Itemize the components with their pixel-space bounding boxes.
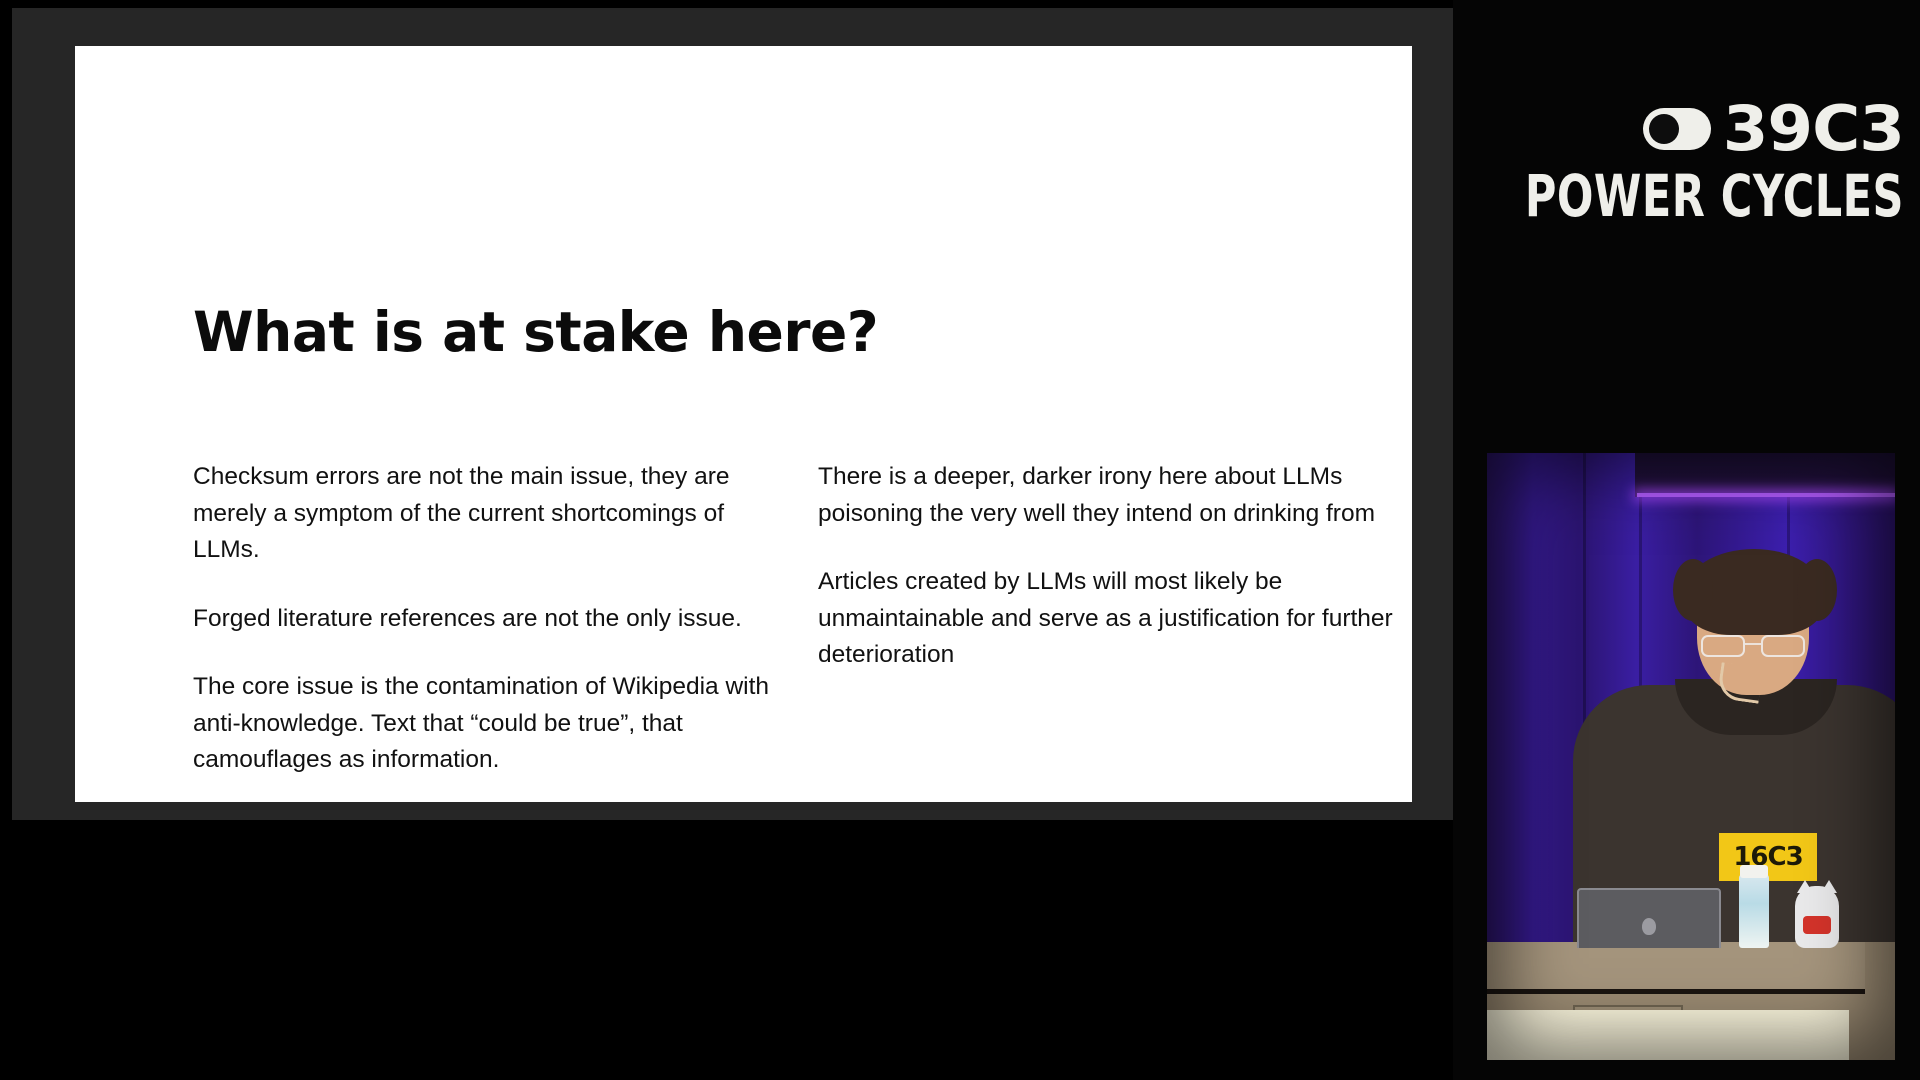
- lectern: [1487, 942, 1895, 1060]
- screen-capture-root: What is at stake here? Checksum errors a…: [0, 0, 1920, 1080]
- eyeglass-bridge: [1745, 643, 1761, 645]
- bottle-cap: [1740, 865, 1768, 878]
- lectern-top-surface: [1487, 942, 1865, 994]
- speaker-hair: [1685, 549, 1823, 635]
- slide-paragraph: Forged literature references are not the…: [193, 601, 771, 638]
- eyeglass-lens-right: [1761, 635, 1805, 657]
- toggle-switch-off-icon: [1643, 108, 1711, 150]
- eyeglass-lens-left: [1701, 635, 1745, 657]
- event-motto: POWER CYCLES: [1489, 168, 1904, 226]
- presentation-slide: What is at stake here? Checksum errors a…: [75, 46, 1412, 802]
- neko-collar: [1803, 916, 1831, 934]
- slide-column-right: There is a deeper, darker irony here abo…: [818, 459, 1393, 779]
- water-bottle-icon: [1739, 874, 1769, 948]
- slide-paragraph: There is a deeper, darker irony here abo…: [818, 459, 1393, 532]
- projection-screen-frame: What is at stake here? Checksum errors a…: [12, 8, 1453, 820]
- event-branding: 39C3 POWER CYCLES: [1453, 100, 1920, 223]
- slide-column-left: Checksum errors are not the main issue, …: [193, 459, 771, 779]
- slide-paragraph: The core issue is the contamination of W…: [193, 669, 771, 779]
- event-logo-row: 39C3: [1453, 100, 1904, 157]
- apple-logo-icon: [1642, 918, 1656, 935]
- laptop-icon: [1577, 888, 1721, 948]
- neko-ear-left: [1797, 880, 1813, 893]
- right-rail: 39C3 POWER CYCLES 16C3: [1453, 0, 1920, 1080]
- slide-body-columns: Checksum errors are not the main issue, …: [193, 459, 1393, 779]
- lectern-lit-panel: [1487, 1010, 1849, 1060]
- event-name: 39C3: [1723, 100, 1904, 157]
- eyeglasses-icon: [1699, 635, 1807, 657]
- slide-title: What is at stake here?: [193, 304, 878, 362]
- slide-paragraph: Articles created by LLMs will most likel…: [818, 564, 1393, 674]
- maneki-neko-figurine-icon: [1795, 886, 1839, 948]
- stage-light-strip: [1635, 453, 1895, 497]
- slide-paragraph: Checksum errors are not the main issue, …: [193, 459, 771, 569]
- speaker-camera-feed: 16C3: [1487, 453, 1895, 1060]
- neko-ear-right: [1821, 880, 1837, 893]
- hoodie-logo-badge: 16C3: [1719, 833, 1817, 881]
